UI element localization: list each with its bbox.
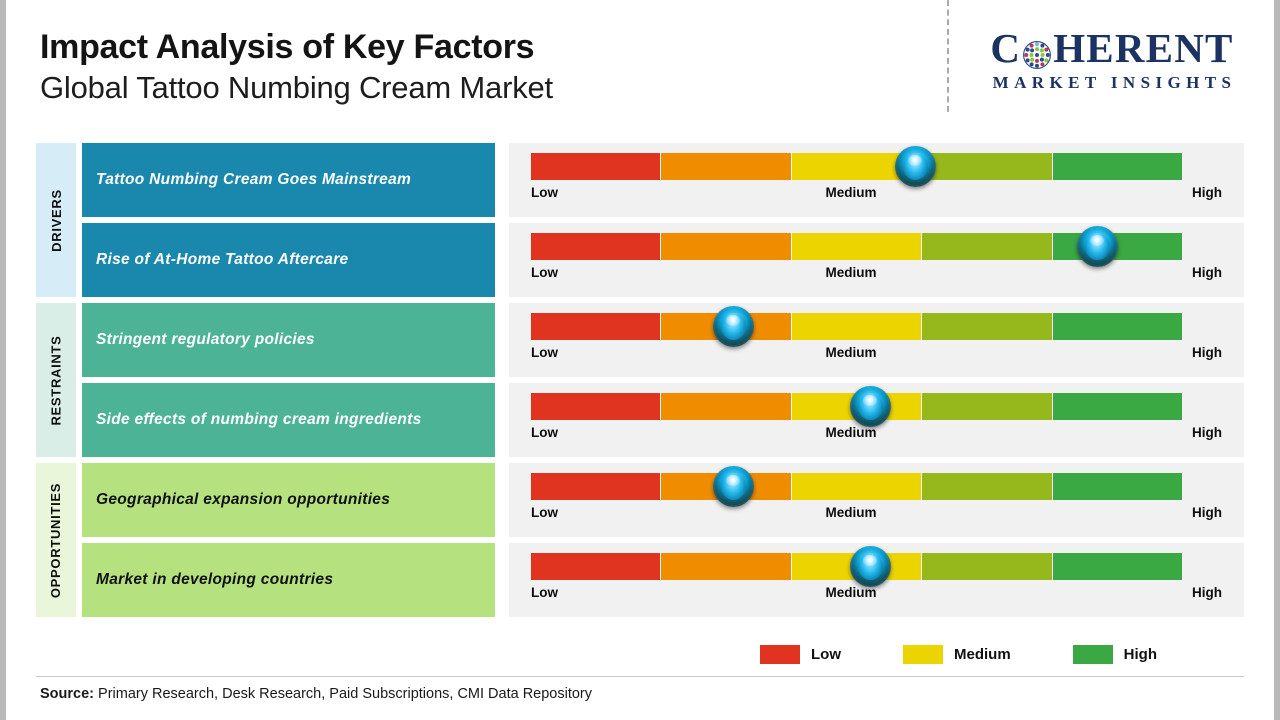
factor-bar[interactable]: Geographical expansion opportunities bbox=[82, 463, 495, 537]
source-note: Source: Primary Research, Desk Research,… bbox=[40, 686, 592, 702]
legend-label-medium: Medium bbox=[954, 646, 1011, 663]
gauge-segment-4 bbox=[922, 313, 1052, 340]
gauge-tick-medium: Medium bbox=[558, 425, 1192, 440]
gauge-tick-low: Low bbox=[531, 425, 558, 440]
page-title: Impact Analysis of Key Factors bbox=[40, 28, 553, 66]
gauge-scale bbox=[531, 473, 1182, 500]
gauge-marker[interactable] bbox=[895, 146, 936, 187]
category-group-drivers: DRIVERS Tattoo Numbing Cream Goes Mainst… bbox=[36, 143, 1244, 297]
right-edge-strip bbox=[1274, 0, 1280, 720]
gauge-segment-3 bbox=[792, 233, 922, 260]
factor-bar[interactable]: Side effects of numbing cream ingredient… bbox=[82, 383, 495, 457]
gauge-segment-1 bbox=[531, 473, 661, 500]
category-rows-opportunities: Geographical expansion opportunities bbox=[82, 463, 1244, 617]
legend-label-low: Low bbox=[811, 646, 841, 663]
gauge-tick-high: High bbox=[1192, 425, 1222, 440]
gauge-segment-1 bbox=[531, 393, 661, 420]
impact-gauge: Low Medium High bbox=[509, 543, 1244, 617]
gauge-tick-high: High bbox=[1192, 585, 1222, 600]
category-label-text: OPPORTUNITIES bbox=[49, 482, 64, 597]
gauge-tick-medium: Medium bbox=[558, 585, 1192, 600]
gauge-marker[interactable] bbox=[850, 386, 891, 427]
gauge-tick-medium: Medium bbox=[558, 265, 1192, 280]
factor-bar[interactable]: Market in developing countries bbox=[82, 543, 495, 617]
gauge-segment-4 bbox=[922, 473, 1052, 500]
category-label-restraints: RESTRAINTS bbox=[36, 303, 76, 457]
table-row: Tattoo Numbing Cream Goes Mainstream bbox=[82, 143, 1244, 217]
logo-divider bbox=[947, 0, 949, 112]
page-subtitle: Global Tattoo Numbing Cream Market bbox=[40, 69, 553, 108]
chart-legend: Low Medium High bbox=[760, 645, 1157, 664]
gauge-segment-2 bbox=[661, 553, 791, 580]
source-label: Source: bbox=[40, 686, 94, 702]
gauge-segment-4 bbox=[922, 393, 1052, 420]
legend-swatch-low bbox=[760, 645, 800, 664]
gauge-marker[interactable] bbox=[850, 546, 891, 587]
legend-swatch-medium bbox=[903, 645, 943, 664]
legend-item-low: Low bbox=[760, 645, 841, 664]
impact-gauge: Low Medium High bbox=[509, 303, 1244, 377]
legend-item-medium: Medium bbox=[903, 645, 1011, 664]
gauge-segment-2 bbox=[661, 153, 791, 180]
logo-word-rest: HERENT bbox=[1053, 28, 1233, 69]
factor-label: Geographical expansion opportunities bbox=[96, 491, 390, 509]
gauge-tick-labels: Low Medium High bbox=[531, 585, 1222, 600]
gauge-tick-low: Low bbox=[531, 265, 558, 280]
factor-label: Market in developing countries bbox=[96, 571, 333, 589]
gauge-segment-1 bbox=[531, 153, 661, 180]
gauge-tick-labels: Low Medium High bbox=[531, 345, 1222, 360]
logo-letter-c: C bbox=[990, 28, 1021, 69]
factor-bar[interactable]: Stringent regulatory policies bbox=[82, 303, 495, 377]
legend-item-high: High bbox=[1073, 645, 1157, 664]
gauge-segment-5 bbox=[1053, 473, 1182, 500]
gauge-tick-labels: Low Medium High bbox=[531, 425, 1222, 440]
gauge-tick-low: Low bbox=[531, 505, 558, 520]
category-label-text: RESTRAINTS bbox=[49, 335, 64, 425]
legend-swatch-high bbox=[1073, 645, 1113, 664]
gauge-segment-1 bbox=[531, 553, 661, 580]
factor-label: Tattoo Numbing Cream Goes Mainstream bbox=[96, 171, 411, 189]
left-edge-strip bbox=[0, 0, 6, 720]
category-label-drivers: DRIVERS bbox=[36, 143, 76, 297]
gauge-marker[interactable] bbox=[713, 306, 754, 347]
table-row: Geographical expansion opportunities bbox=[82, 463, 1244, 537]
slide-canvas: Impact Analysis of Key Factors Global Ta… bbox=[0, 0, 1280, 720]
footer-divider bbox=[36, 676, 1244, 677]
gauge-tick-high: High bbox=[1192, 265, 1222, 280]
category-rows-drivers: Tattoo Numbing Cream Goes Mainstream bbox=[82, 143, 1244, 297]
table-row: Side effects of numbing cream ingredient… bbox=[82, 383, 1244, 457]
gauge-tick-labels: Low Medium High bbox=[531, 505, 1222, 520]
table-row: Stringent regulatory policies Low bbox=[82, 303, 1244, 377]
gauge-tick-medium: Medium bbox=[558, 185, 1192, 200]
gauge-marker[interactable] bbox=[713, 466, 754, 507]
gauge-tick-low: Low bbox=[531, 345, 558, 360]
gauge-tick-medium: Medium bbox=[558, 505, 1192, 520]
globe-icon bbox=[1022, 36, 1052, 66]
gauge-tick-labels: Low Medium High bbox=[531, 185, 1222, 200]
category-label-text: DRIVERS bbox=[49, 189, 64, 252]
logo-tagline: MARKET INSIGHTS bbox=[962, 73, 1262, 93]
gauge-segment-3 bbox=[792, 473, 922, 500]
gauge-segment-1 bbox=[531, 233, 661, 260]
gauge-segment-5 bbox=[1053, 313, 1182, 340]
category-rows-restraints: Stringent regulatory policies Low bbox=[82, 303, 1244, 457]
gauge-tick-medium: Medium bbox=[558, 345, 1192, 360]
impact-gauge: Low Medium High bbox=[509, 143, 1244, 217]
category-group-restraints: RESTRAINTS Stringent regulatory policies bbox=[36, 303, 1244, 457]
gauge-tick-labels: Low Medium High bbox=[531, 265, 1222, 280]
impact-gauge: Low Medium High bbox=[509, 383, 1244, 457]
gauge-segment-3 bbox=[792, 313, 922, 340]
gauge-segment-4 bbox=[922, 553, 1052, 580]
impact-matrix: DRIVERS Tattoo Numbing Cream Goes Mainst… bbox=[36, 143, 1244, 617]
gauge-tick-high: High bbox=[1192, 345, 1222, 360]
gauge-scale bbox=[531, 313, 1182, 340]
impact-gauge: Low Medium High bbox=[509, 463, 1244, 537]
gauge-scale bbox=[531, 153, 1182, 180]
gauge-marker[interactable] bbox=[1077, 226, 1118, 267]
header: Impact Analysis of Key Factors Global Ta… bbox=[40, 28, 553, 108]
category-group-opportunities: OPPORTUNITIES Geographical expansion opp… bbox=[36, 463, 1244, 617]
table-row: Rise of At-Home Tattoo Aftercare Low bbox=[82, 223, 1244, 297]
gauge-segment-1 bbox=[531, 313, 661, 340]
impact-gauge: Low Medium High bbox=[509, 223, 1244, 297]
logo-wordmark: C bbox=[962, 28, 1262, 69]
gauge-segment-5 bbox=[1053, 553, 1182, 580]
gauge-segment-5 bbox=[1053, 153, 1182, 180]
brand-logo: C bbox=[962, 28, 1262, 93]
gauge-segment-4 bbox=[922, 233, 1052, 260]
gauge-segment-2 bbox=[661, 233, 791, 260]
factor-label: Side effects of numbing cream ingredient… bbox=[96, 411, 422, 429]
factor-label: Stringent regulatory policies bbox=[96, 331, 315, 349]
gauge-segment-5 bbox=[1053, 393, 1182, 420]
gauge-tick-high: High bbox=[1192, 505, 1222, 520]
gauge-segment-2 bbox=[661, 393, 791, 420]
gauge-segment-4 bbox=[922, 153, 1052, 180]
factor-bar[interactable]: Rise of At-Home Tattoo Aftercare bbox=[82, 223, 495, 297]
factor-label: Rise of At-Home Tattoo Aftercare bbox=[96, 251, 348, 269]
table-row: Market in developing countries Low bbox=[82, 543, 1244, 617]
gauge-tick-low: Low bbox=[531, 585, 558, 600]
gauge-tick-high: High bbox=[1192, 185, 1222, 200]
factor-bar[interactable]: Tattoo Numbing Cream Goes Mainstream bbox=[82, 143, 495, 217]
source-text: Primary Research, Desk Research, Paid Su… bbox=[94, 686, 592, 702]
category-label-opportunities: OPPORTUNITIES bbox=[36, 463, 76, 617]
gauge-tick-low: Low bbox=[531, 185, 558, 200]
legend-label-high: High bbox=[1124, 646, 1157, 663]
